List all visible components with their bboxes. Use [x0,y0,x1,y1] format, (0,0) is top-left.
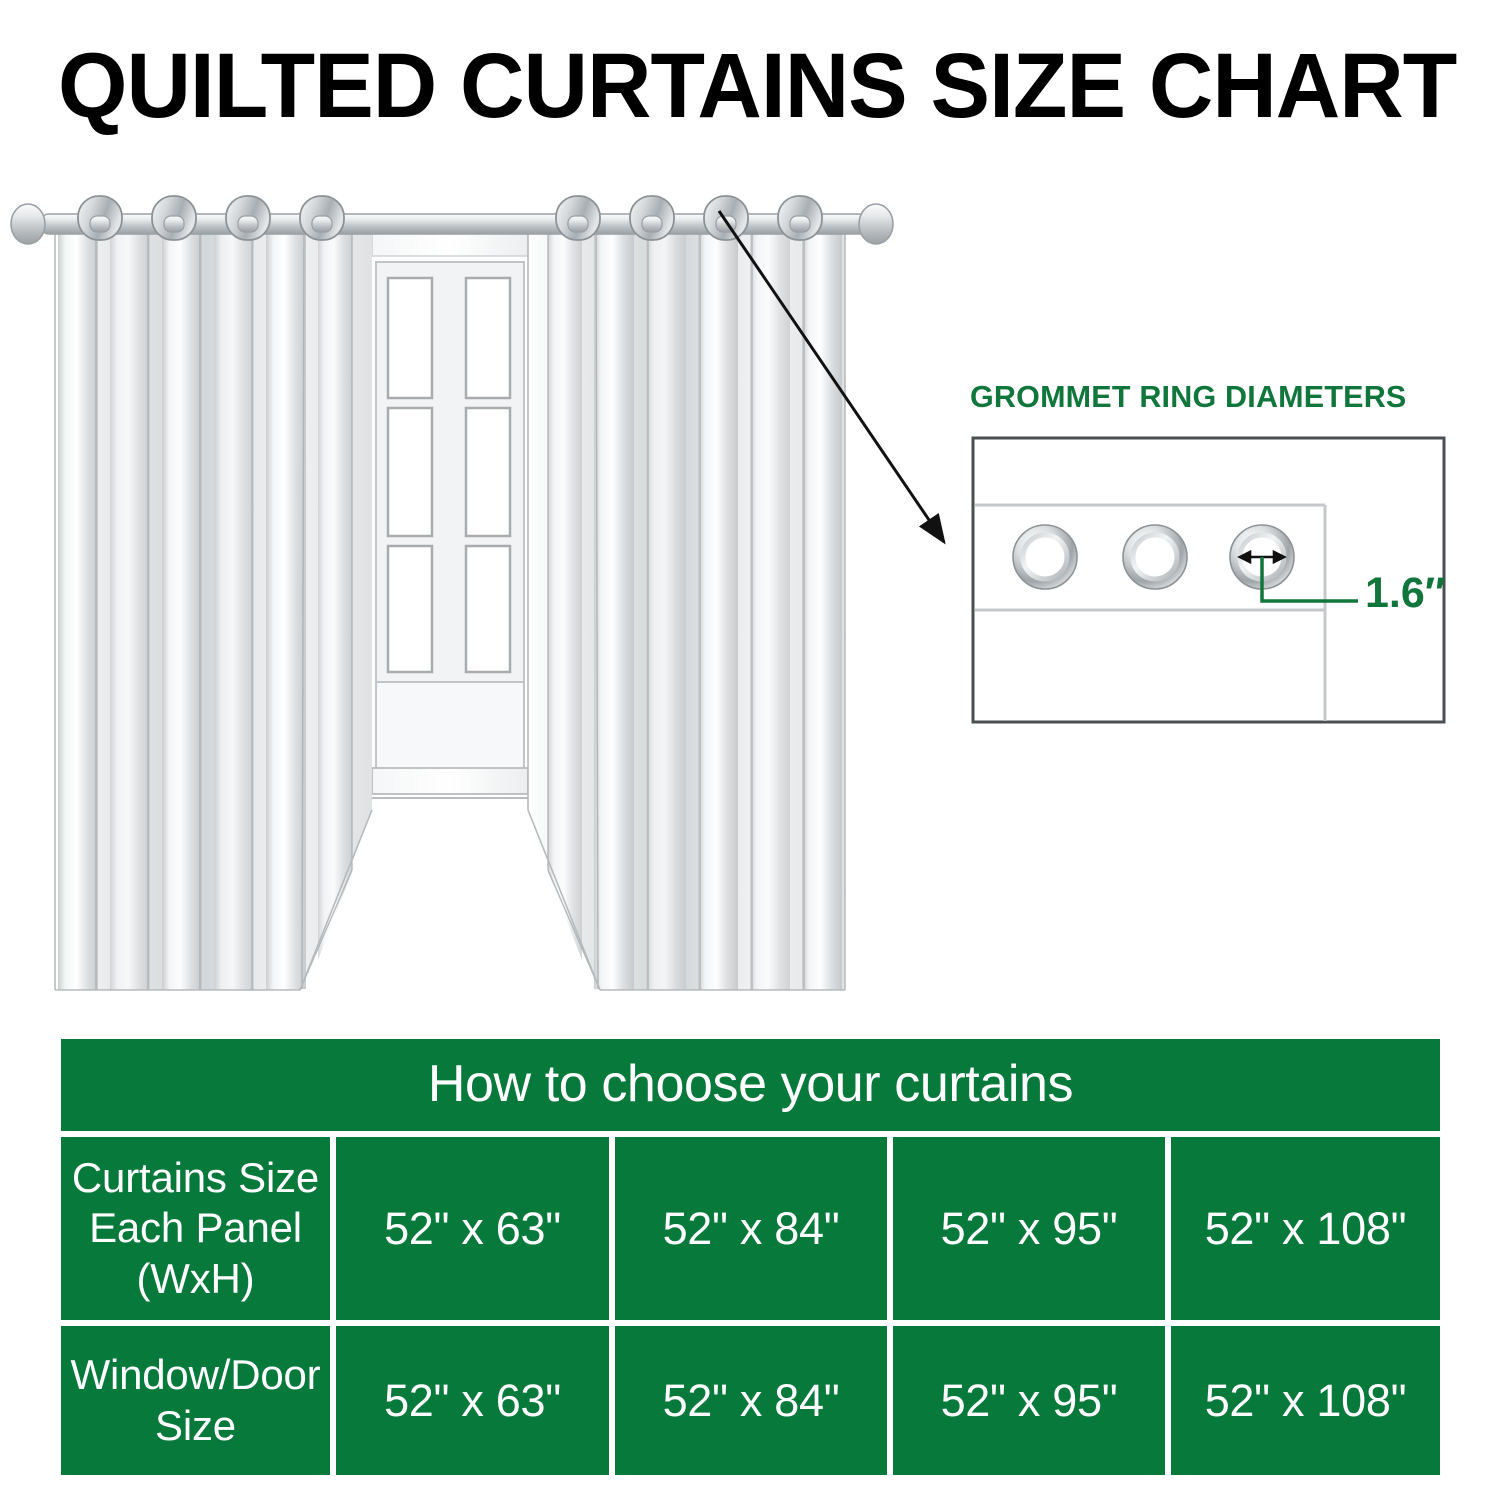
grommet-ring-1 [1013,525,1077,589]
cell-r2c1: 52" x 63" [333,1323,612,1478]
cell-r1c1: 52" x 63" [333,1134,612,1323]
table-row: Curtains Size Each Panel (WxH) 52" x 63"… [58,1134,1443,1323]
cell-r1c3: 52" x 95" [890,1134,1168,1323]
row-label-line-1: Curtains Size [67,1153,324,1203]
row-label-line-1: Window/Door [67,1350,324,1400]
cell-r2c2: 52" x 84" [612,1323,890,1478]
rod-finial-right [859,204,893,244]
curtain-panel-right [528,220,845,990]
table-title: How to choose your curtains [58,1036,1443,1134]
grommet-detail-callout: GROMMET RING DIAMETERS [965,380,1450,730]
curtain-panel-left [55,220,372,991]
size-chart-page: QUILTED CURTAINS SIZE CHART [0,0,1500,1500]
row-label-line-2: Each Panel [67,1203,324,1253]
curtain-illustration [0,170,900,1030]
rod-finial-left [11,204,45,244]
page-title: QUILTED CURTAINS SIZE CHART [58,36,1416,136]
grommet-detail-heading: GROMMET RING DIAMETERS [970,380,1450,415]
grommet-ring-2 [1123,525,1187,589]
cell-r1c2: 52" x 84" [612,1134,890,1323]
size-chart-table: How to choose your curtains Curtains Siz… [58,1036,1443,1478]
cell-r1c4: 52" x 108" [1168,1134,1443,1323]
row-label-line-2: Size [67,1401,324,1451]
grommet-detail-panel: 1.6″ [970,435,1447,725]
row-label-curtains-size: Curtains Size Each Panel (WxH) [58,1134,333,1323]
table-title-row: How to choose your curtains [58,1036,1443,1134]
grommet-measurement-label: 1.6″ [1365,572,1445,615]
row-label-window-door-size: Window/Door Size [58,1323,333,1478]
row-label-line-3: (WxH) [67,1254,324,1304]
table-row: Window/Door Size 52" x 63" 52" x 84" 52"… [58,1323,1443,1478]
cell-r2c3: 52" x 95" [890,1323,1168,1478]
cell-r2c4: 52" x 108" [1168,1323,1443,1478]
window-behind-curtains [370,228,530,798]
